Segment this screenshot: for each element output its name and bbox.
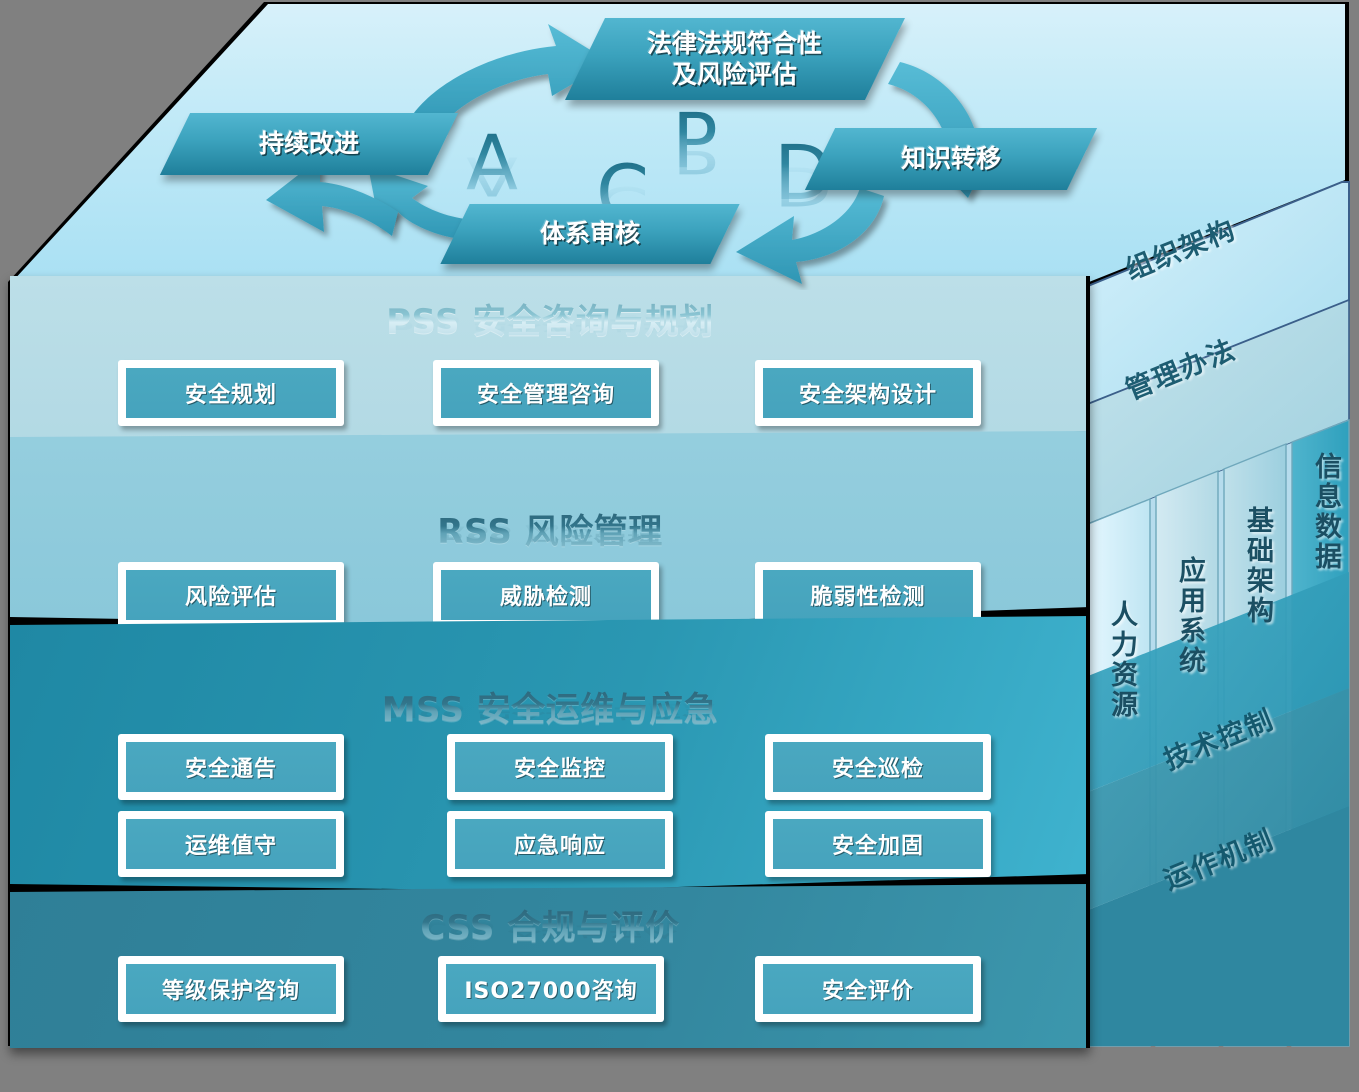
module-box[interactable]: 安全通告 bbox=[118, 734, 344, 800]
diagram-canvas: A C P D 法律法规符合性及风险评估 知识转移 体系审核 持续改进 bbox=[0, 0, 1359, 1092]
module-label: 脆弱性检测 bbox=[763, 570, 973, 620]
module-label: 安全加固 bbox=[773, 819, 983, 869]
module-box[interactable]: 安全评价 bbox=[755, 956, 981, 1022]
module-label: ISO27000咨询 bbox=[446, 964, 656, 1014]
module-box[interactable]: 运维值守 bbox=[118, 811, 344, 877]
module-box[interactable]: 安全规划 bbox=[118, 360, 344, 426]
module-box[interactable]: 安全架构设计 bbox=[755, 360, 981, 426]
layer-css: CSS 合规与评价 CSS 合规与评价 等级保护咨询 ISO27000咨询 安全… bbox=[10, 884, 1090, 1048]
module-label: 安全通告 bbox=[126, 742, 336, 792]
module-box[interactable]: 安全巡检 bbox=[765, 734, 991, 800]
layer-rss: RSS 风险管理 RSS 风险管理 风险评估 威胁检测 脆弱性检测 bbox=[10, 431, 1090, 626]
layer-mss: MSS 安全运维与应急 MSS 安全运维与应急 安全通告 安全监控 安全巡检 运… bbox=[10, 616, 1090, 891]
module-label: 安全规划 bbox=[126, 368, 336, 418]
side-panel: 组织架构 管理办法 技术控制 运作机制 人力资源 应用系统 基础架构 信息数据 bbox=[1088, 0, 1359, 1092]
module-label: 安全架构设计 bbox=[763, 368, 973, 418]
module-label: 运维值守 bbox=[126, 819, 336, 869]
layer-stack: PSS 安全咨询与规划 PSS 安全咨询与规划 安全规划 安全管理咨询 安全架构… bbox=[10, 276, 1090, 1048]
pdca-node-do[interactable]: 知识转移 bbox=[805, 128, 1097, 190]
module-box[interactable]: ISO27000咨询 bbox=[438, 956, 664, 1022]
module-box[interactable]: 等级保护咨询 bbox=[118, 956, 344, 1022]
module-label: 威胁检测 bbox=[441, 570, 651, 620]
module-label: 安全评价 bbox=[763, 964, 973, 1014]
module-label: 风险评估 bbox=[126, 570, 336, 620]
module-box[interactable]: 安全监控 bbox=[447, 734, 673, 800]
pdca-node-plan[interactable]: 法律法规符合性及风险评估 bbox=[565, 18, 905, 100]
module-label: 应急响应 bbox=[455, 819, 665, 869]
module-box[interactable]: 安全加固 bbox=[765, 811, 991, 877]
module-box[interactable]: 应急响应 bbox=[447, 811, 673, 877]
cube-vertical-edge bbox=[1086, 276, 1090, 1048]
pdca-node-act[interactable]: 持续改进 bbox=[160, 113, 458, 175]
module-label: 安全巡检 bbox=[773, 742, 983, 792]
module-label: 安全管理咨询 bbox=[441, 368, 651, 418]
layer-pss: PSS 安全咨询与规划 PSS 安全咨询与规划 安全规划 安全管理咨询 安全架构… bbox=[10, 276, 1090, 448]
module-box[interactable]: 安全管理咨询 bbox=[433, 360, 659, 426]
module-label: 等级保护咨询 bbox=[126, 964, 336, 1014]
pdca-node-check[interactable]: 体系审核 bbox=[440, 204, 739, 264]
module-label: 安全监控 bbox=[455, 742, 665, 792]
